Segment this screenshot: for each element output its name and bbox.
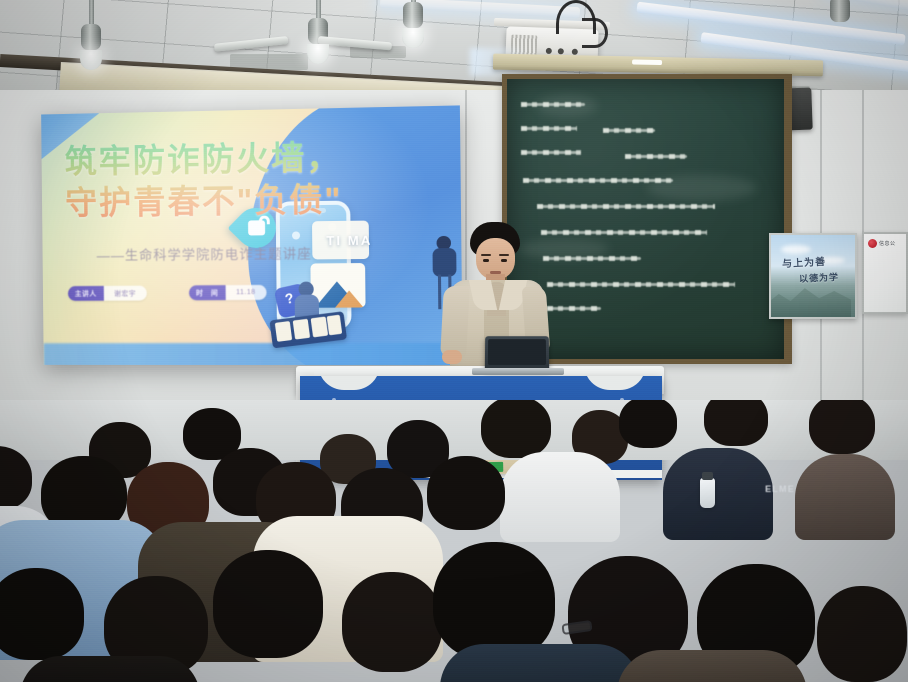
- presenter-eye: [483, 259, 489, 262]
- host-pill-label: 主讲人: [68, 286, 104, 301]
- figure-legs: [438, 275, 441, 310]
- presenter-arm: [440, 285, 470, 358]
- chalk-writing-line: [543, 257, 641, 260]
- audience-head: [619, 400, 677, 448]
- keyboard-key: [327, 315, 343, 336]
- chalk-writing-line: [547, 283, 735, 286]
- laptop[interactable]: [485, 336, 549, 370]
- audience-head: [481, 400, 551, 458]
- lecture-hall-photo: 与上为善 以德为学 信息公 TI MA: [0, 0, 908, 682]
- projector-cable: [582, 18, 608, 48]
- projection-screen: TI MA ?: [41, 105, 462, 365]
- presenter-eyebrow: [499, 254, 509, 256]
- audience-body: [500, 452, 620, 542]
- audience-body: [795, 454, 895, 540]
- ceiling-fan: [36, 0, 146, 78]
- ceiling-fan: [358, 0, 468, 46]
- slide-host-pill: 主讲人 谢宏宇: [68, 286, 147, 301]
- audience-head: [0, 568, 84, 660]
- chalk-writing-line: [537, 205, 715, 208]
- speech-bubble-glyph: ?: [283, 289, 295, 307]
- audience-jacket-text: ELME: [765, 484, 795, 494]
- chalk-writing-line: [521, 103, 585, 106]
- audience-body: [663, 448, 773, 540]
- keyboard-key: [293, 319, 310, 340]
- laptop-base: [472, 368, 564, 375]
- audience-head: [809, 400, 875, 454]
- keyboard-key: [275, 321, 292, 342]
- audience-body: [20, 656, 200, 682]
- chalk-writing-line: [547, 307, 601, 310]
- slide-title: 筑牢防诈防火墙， 守护青春不"负债": [65, 136, 363, 225]
- water-bottle: [700, 478, 715, 508]
- chalk-writing-line: [521, 127, 577, 130]
- projector-knob: [572, 49, 578, 55]
- lectern-cutout: [584, 376, 646, 390]
- fan-light-bulb: [307, 44, 329, 64]
- slide-bottom-strip: [43, 343, 462, 365]
- presenter-hand: [442, 350, 462, 364]
- projector-knob: [558, 48, 564, 54]
- notice-whiteboard[interactable]: 信息公: [862, 232, 908, 314]
- fan-rod: [316, 0, 321, 20]
- audience-body: [617, 650, 807, 682]
- whiteboard-logo-text: 信息公: [879, 240, 896, 247]
- presentation-slide: TI MA ?: [41, 105, 462, 365]
- keyboard-key: [311, 316, 329, 337]
- poster-calligraphy-line1: 与上为善: [782, 253, 827, 270]
- fan-light-bulb: [80, 50, 102, 70]
- projector-knob: [546, 48, 552, 54]
- audience: ELME: [0, 400, 908, 682]
- bottle-cap: [702, 472, 713, 480]
- fan-rod: [89, 0, 94, 26]
- laptop-screen: [488, 339, 546, 365]
- lectern-cutout: [318, 376, 380, 390]
- slide-time-pill: 时 间 11.18: [189, 285, 267, 300]
- chalk-stick: [632, 59, 662, 65]
- audience-body: [440, 644, 640, 682]
- audience-head: [817, 586, 907, 682]
- phone-dot: [292, 231, 300, 239]
- audience-head: [342, 572, 442, 672]
- audience-head: [427, 456, 505, 530]
- chalk-writing-line: [521, 151, 581, 154]
- slide-subtitle: ——生命科学学院防电诈主题讲座: [97, 242, 396, 265]
- chalk-writing-line: [603, 129, 655, 132]
- mountain-shape-icon: [335, 290, 364, 307]
- audience-head: [213, 550, 323, 658]
- presenter-eye: [501, 259, 507, 262]
- fan-motor: [830, 0, 850, 22]
- fan-motor: [81, 24, 101, 50]
- time-pill-value: 11.18: [225, 285, 267, 300]
- poster-calligraphy-line2: 以德为学: [799, 270, 840, 285]
- host-pill-value: 谢宏宇: [103, 286, 147, 301]
- time-pill-label: 时 间: [189, 285, 225, 300]
- chalk-writing-line: [523, 179, 673, 182]
- landscape-calligraphy-poster: 与上为善 以德为学: [769, 233, 857, 319]
- fan-light-bulb: [402, 28, 424, 48]
- poster-mountains: [769, 281, 851, 317]
- ceiling-fan: [790, 0, 890, 34]
- chalk-writing-line: [625, 155, 687, 158]
- fan-motor: [403, 2, 423, 28]
- chalk-writing-line: [541, 231, 707, 234]
- audience-head: [433, 542, 555, 660]
- institution-logo-icon: [868, 239, 877, 248]
- presenter-eyebrow: [481, 254, 491, 256]
- audience-head: [704, 400, 768, 446]
- poster-cloud: [781, 245, 811, 254]
